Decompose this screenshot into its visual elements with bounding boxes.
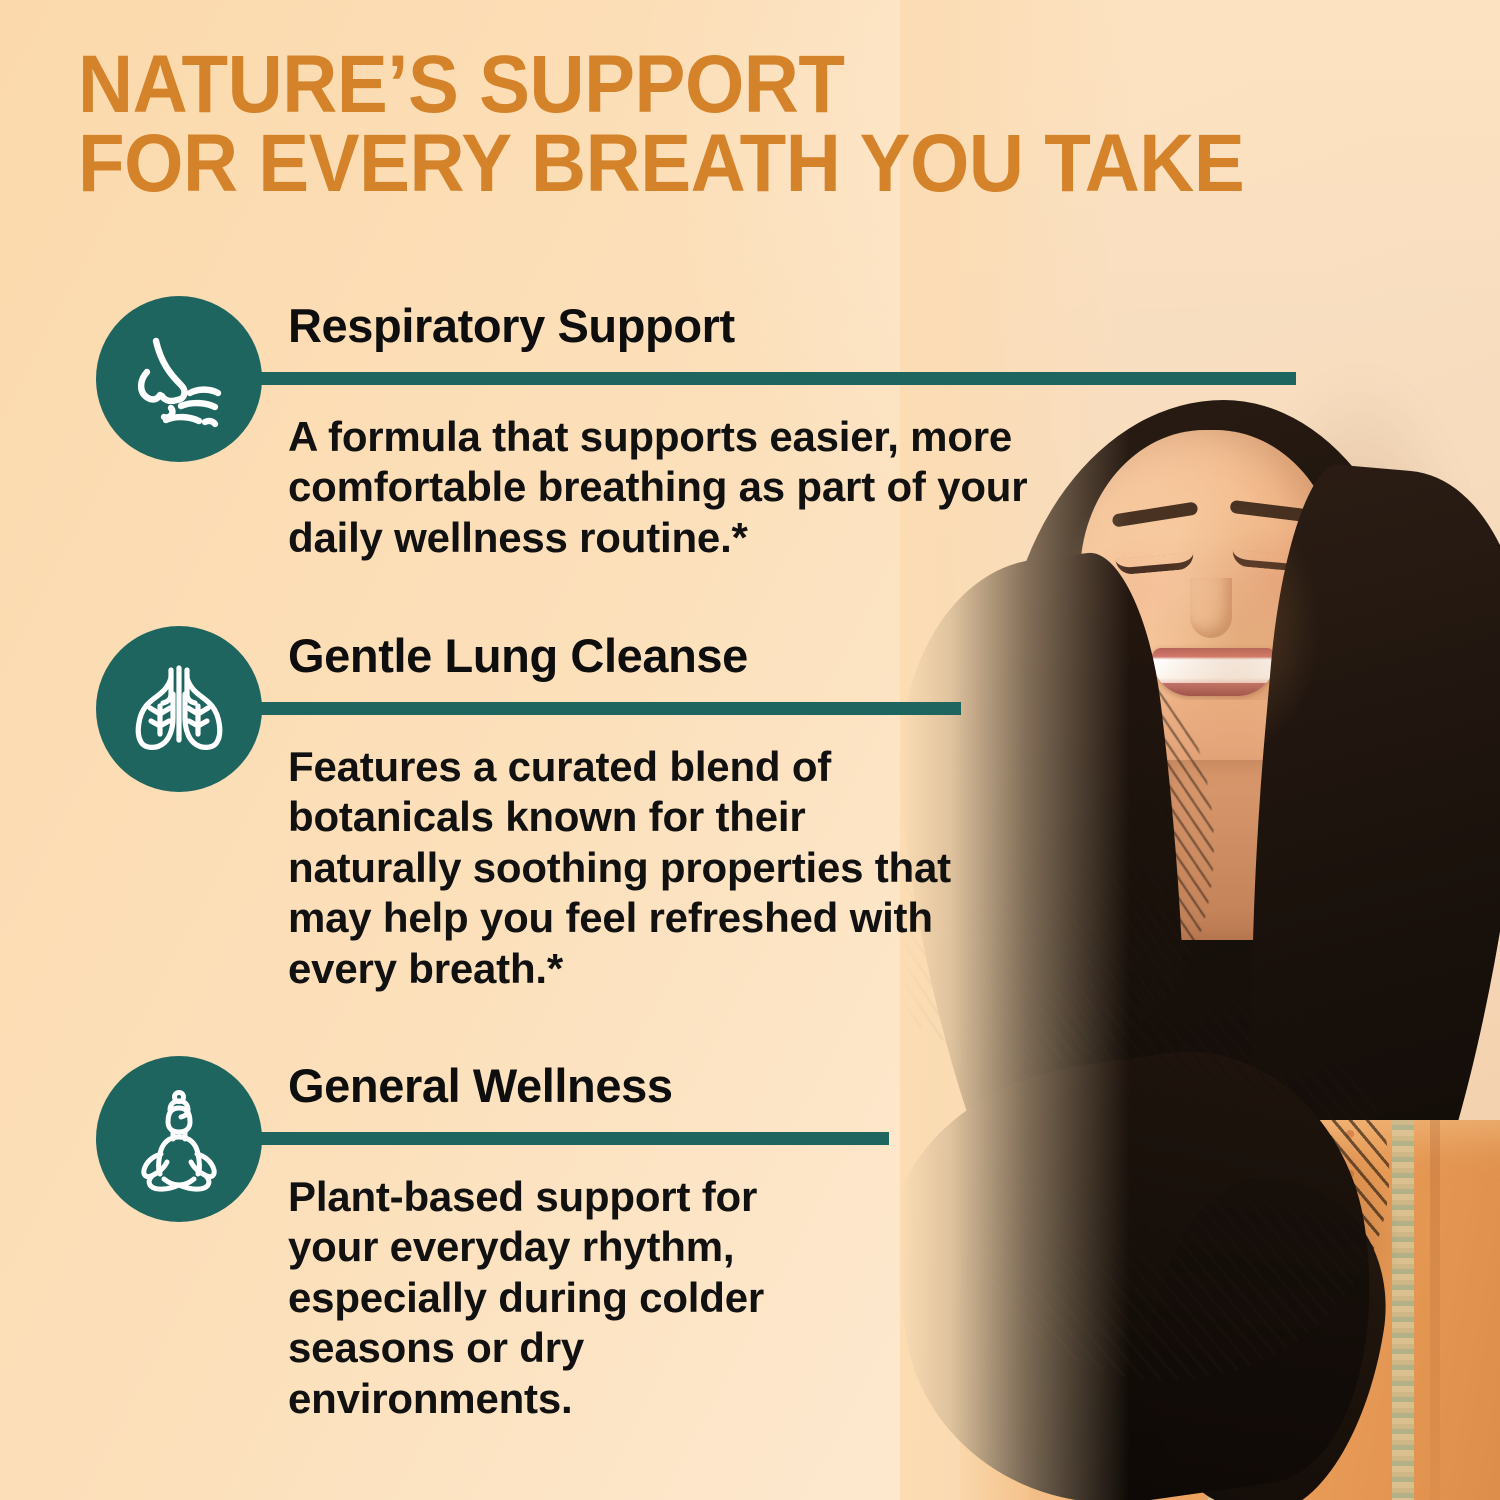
nose-breathing-icon bbox=[96, 296, 262, 462]
feature-body: A formula that supports easier, more com… bbox=[288, 412, 1118, 563]
feature-body: Plant-based support for your everyday rh… bbox=[288, 1172, 848, 1424]
feature-title: Respiratory Support bbox=[288, 298, 735, 353]
lifestyle-photo bbox=[900, 0, 1500, 1500]
feature-divider bbox=[246, 372, 1296, 385]
feature-title: General Wellness bbox=[288, 1058, 673, 1113]
page-title: NATURE’S SUPPORT FOR EVERY BREATH YOU TA… bbox=[78, 46, 1343, 203]
promo-canvas: NATURE’S SUPPORT FOR EVERY BREATH YOU TA… bbox=[0, 0, 1500, 1500]
feature-title: Gentle Lung Cleanse bbox=[288, 628, 748, 683]
feature-divider bbox=[246, 1132, 889, 1145]
lungs-icon bbox=[96, 626, 262, 792]
feature-divider bbox=[246, 702, 961, 715]
meditation-lotus-icon bbox=[96, 1056, 262, 1222]
feature-body: Features a curated blend of botanicals k… bbox=[288, 742, 958, 994]
